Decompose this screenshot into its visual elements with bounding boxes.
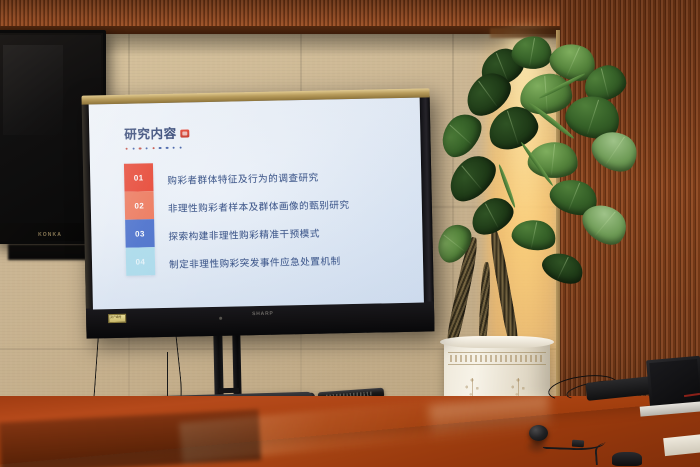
slide-title: 研究内容 [124, 128, 177, 142]
conference-room-photo: KONKA [0, 0, 700, 467]
potted-plant [424, 22, 644, 372]
screen-glare [3, 45, 63, 135]
presentation-display[interactable]: SHARP 资产编号 LC-60 SERIES 研究内容 [81, 88, 434, 338]
konka-tv-stand [8, 244, 94, 260]
planter-band [448, 352, 546, 353]
ir-receiver [219, 317, 222, 320]
number-label: 02 [134, 201, 144, 210]
slide-item-text-4: 制定非理性购彩突发事件应急处置机制 [169, 246, 351, 278]
slide-body: 01 02 03 04 购彩者群体特征及行为的调查研究 [124, 159, 351, 279]
dot [126, 148, 128, 150]
planter-rim [440, 336, 554, 348]
plant-trunk [488, 228, 521, 348]
planter-band [448, 364, 546, 365]
asset-tag-sticker: 资产编号 [108, 314, 126, 323]
display-brand-label: SHARP [252, 311, 274, 317]
dot [179, 147, 181, 149]
number-label: 01 [134, 173, 144, 182]
slide-item-text-2: 非理性购彩者样本及群体画像的甄别研究 [168, 190, 350, 222]
slide-content: 研究内容 01 [89, 98, 424, 310]
laptop-computer[interactable] [646, 356, 700, 409]
decorative-dot-row [126, 147, 182, 151]
title-badge-icon [181, 129, 190, 137]
number-label: 03 [135, 229, 145, 238]
dot [159, 147, 161, 149]
plant-leaf [509, 216, 558, 254]
dot [152, 147, 154, 149]
number-label: 04 [136, 257, 146, 266]
microphone-head[interactable] [529, 425, 548, 441]
number-box-04: 04 [126, 247, 156, 276]
number-box-03: 03 [125, 219, 155, 248]
number-box-02: 02 [125, 191, 155, 220]
display-stand-crossbar [219, 388, 239, 393]
slide-item-text-1: 购彩者群体特征及行为的调查研究 [167, 162, 349, 194]
dot [146, 147, 148, 149]
dot [172, 147, 174, 149]
microphone-clip [572, 440, 584, 448]
number-column: 01 02 03 04 [124, 163, 155, 276]
slide-screen[interactable]: 研究内容 01 [89, 98, 424, 310]
microphone-base[interactable] [612, 452, 642, 466]
text-column: 购彩者群体特征及行为的调查研究 非理性购彩者样本及群体画像的甄别研究 探索构建非… [167, 159, 351, 278]
plant-leaf [538, 246, 588, 290]
dot [132, 148, 134, 150]
slide-item-text-3: 探索构建非理性购彩精准干预模式 [168, 218, 350, 250]
number-box-01: 01 [124, 163, 154, 192]
planter-vine-pattern [450, 355, 544, 362]
paper-document [663, 434, 700, 456]
slide-title-row: 研究内容 [124, 127, 190, 141]
asset-tag-text: 资产编号 [109, 315, 125, 319]
dot [166, 147, 168, 149]
dot [139, 147, 141, 149]
